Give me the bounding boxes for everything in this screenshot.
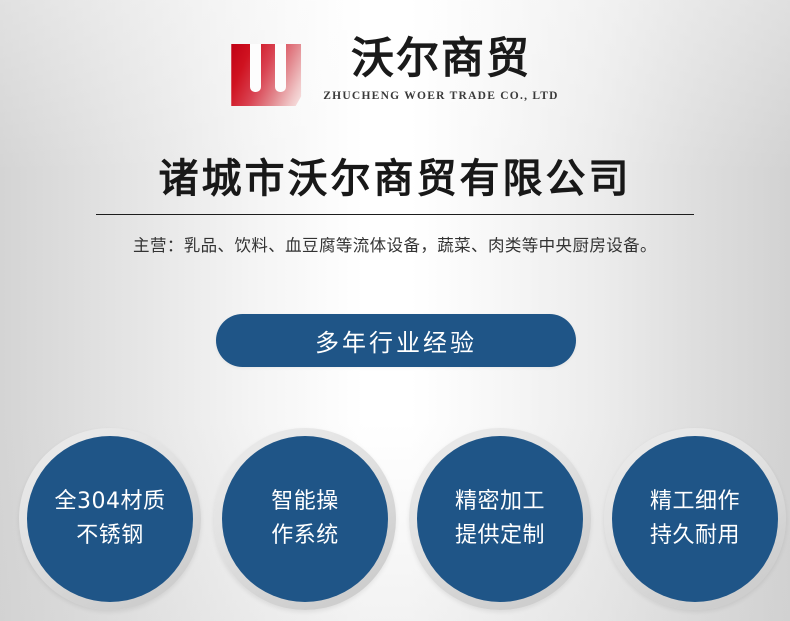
- brand-name-cn: 沃尔商贸: [351, 38, 531, 83]
- brand-lockup: 沃尔商贸 ZHUCHENG WOER TRADE CO., LTD: [0, 38, 790, 106]
- feature-circle-list: 全304材质 不锈钢 智能操 作系统 精密加工 提供定制 精工细作 持久耐用: [0, 428, 790, 621]
- promo-banner: 沃尔商贸 ZHUCHENG WOER TRADE CO., LTD 诸城市沃尔商…: [0, 0, 790, 621]
- feature-circle-disc: 精工细作 持久耐用: [612, 436, 778, 602]
- feature-circle-1: 全304材质 不锈钢: [19, 428, 201, 610]
- feature-circle-disc: 全304材质 不锈钢: [27, 436, 193, 602]
- title-divider: [96, 214, 694, 215]
- feature-circle-2: 智能操 作系统: [214, 428, 396, 610]
- feature-circle-disc: 精密加工 提供定制: [417, 436, 583, 602]
- feature-circle-3: 精密加工 提供定制: [409, 428, 591, 610]
- feature-circle-line1: 全304材质: [55, 491, 166, 513]
- feature-circle-line1: 精工细作: [650, 491, 740, 513]
- feature-circle-line1: 智能操: [271, 491, 339, 513]
- woer-w-logo-icon: [231, 44, 301, 106]
- brand-name-en: ZHUCHENG WOER TRADE CO., LTD: [323, 90, 558, 102]
- feature-circle-line2: 提供定制: [455, 525, 545, 547]
- logo-slot-left: [250, 43, 261, 92]
- feature-circle-disc: 智能操 作系统: [222, 436, 388, 602]
- feature-circle-4: 精工细作 持久耐用: [604, 428, 786, 610]
- brand-text: 沃尔商贸 ZHUCHENG WOER TRADE CO., LTD: [323, 38, 558, 102]
- experience-badge: 多年行业经验: [216, 314, 576, 367]
- feature-circle-line2: 作系统: [271, 525, 339, 547]
- feature-circle-line2: 不锈钢: [76, 525, 144, 547]
- feature-circle-line1: 精密加工: [455, 491, 545, 513]
- feature-circle-line2: 持久耐用: [650, 525, 740, 547]
- experience-badge-label: 多年行业经验: [315, 323, 477, 358]
- page-title: 诸城市沃尔商贸有限公司: [0, 146, 790, 204]
- business-scope-text: 主营：乳品、饮料、血豆腐等流体设备，蔬菜、肉类等中央厨房设备。: [0, 232, 790, 256]
- logo-slot-right: [275, 43, 286, 92]
